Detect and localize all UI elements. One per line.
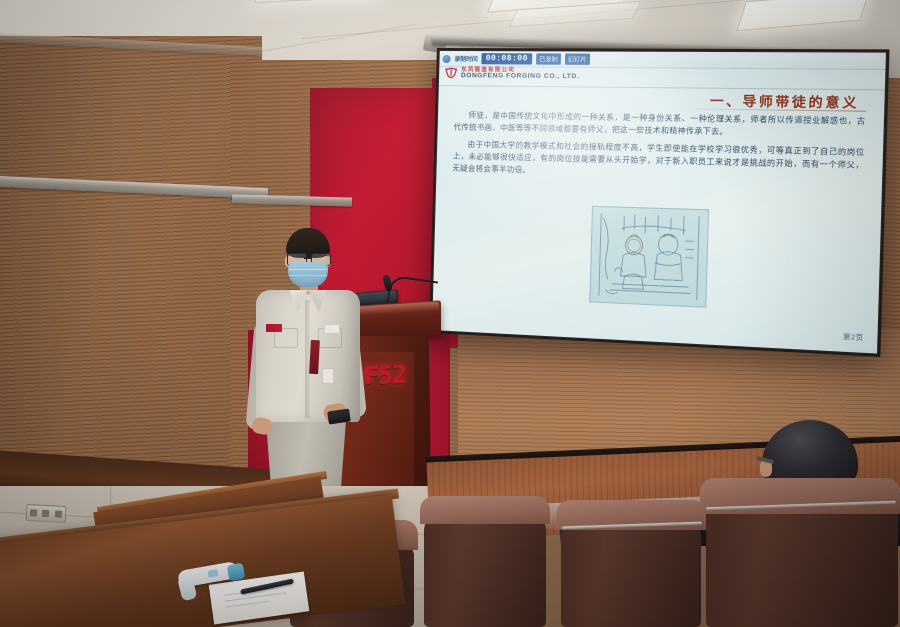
speaker-id-badge xyxy=(322,368,334,384)
auditorium-seat[interactable] xyxy=(420,496,550,627)
speaker-red-emblem xyxy=(266,324,282,332)
seat-headrest xyxy=(420,496,550,524)
auditorium-seat[interactable] xyxy=(700,478,900,627)
slide-paragraph-1: 师徒，是中国传统文化中形成的一种关系，是一种身份关系、一种伦理关系，师者所以传道… xyxy=(453,109,865,141)
slide-divider xyxy=(439,85,885,90)
company-name-en: DONGFENG FORGING CO., LTD. xyxy=(461,74,580,82)
speaker-lanyard xyxy=(309,340,320,374)
mask-pleat xyxy=(289,275,327,276)
speaker-name-patch xyxy=(324,324,340,334)
powerpoint-icon xyxy=(442,54,450,62)
wood-wall-left xyxy=(0,36,262,512)
presentation-slide: 录制时间 00:08:00 已录制 幻灯片 东风锻造有限公司 DONGFENG … xyxy=(432,51,886,354)
recording-status: 已录制 xyxy=(536,53,561,64)
company-logo-block: 东风锻造有限公司 DONGFENG FORGING CO., LTD. xyxy=(444,67,580,82)
dongfeng-forging-logo-icon xyxy=(444,67,458,81)
outlet-socket-icon xyxy=(55,510,62,517)
master-apprentice-drawing-icon xyxy=(590,207,708,307)
projection-screen: 录制时间 00:08:00 已录制 幻灯片 东风锻造有限公司 DONGFENG … xyxy=(429,48,889,357)
seat-backrest xyxy=(424,516,546,627)
outlet-socket-icon xyxy=(30,509,37,516)
conference-room-photo: 录制时间 00:08:00 已录制 幻灯片 东风锻造有限公司 DONGFENG … xyxy=(0,0,900,627)
wall-power-outlet[interactable] xyxy=(26,504,67,523)
outlet-socket-icon xyxy=(42,510,49,517)
auditorium-seat[interactable] xyxy=(556,500,706,627)
slide-paragraph-2: 由于中国大学的教学模式和社会的接轨程度不高，学生即使能在学校学习很优秀，可等真正… xyxy=(452,138,865,185)
mask-pleat xyxy=(289,269,327,270)
slide-badge: 幻灯片 xyxy=(565,53,590,64)
company-name-block: 东风锻造有限公司 DONGFENG FORGING CO., LTD. xyxy=(461,68,580,81)
speaker-mobile-phone[interactable] xyxy=(327,409,351,425)
slide-page-marker: 第2页 xyxy=(843,330,864,342)
slide-illustration xyxy=(589,206,709,308)
recording-timer: 00:08:00 xyxy=(482,53,533,64)
seat-backrest xyxy=(561,522,701,627)
recording-label: 录制时间 xyxy=(454,54,477,63)
slide-body-text: 师徒，是中国传统文化中形成的一种关系，是一种身份关系、一种伦理关系，师者所以传道… xyxy=(452,109,866,190)
seat-backrest xyxy=(706,504,898,627)
glasses-bridge xyxy=(304,257,312,259)
thermometer-sensor-tip xyxy=(227,563,246,582)
